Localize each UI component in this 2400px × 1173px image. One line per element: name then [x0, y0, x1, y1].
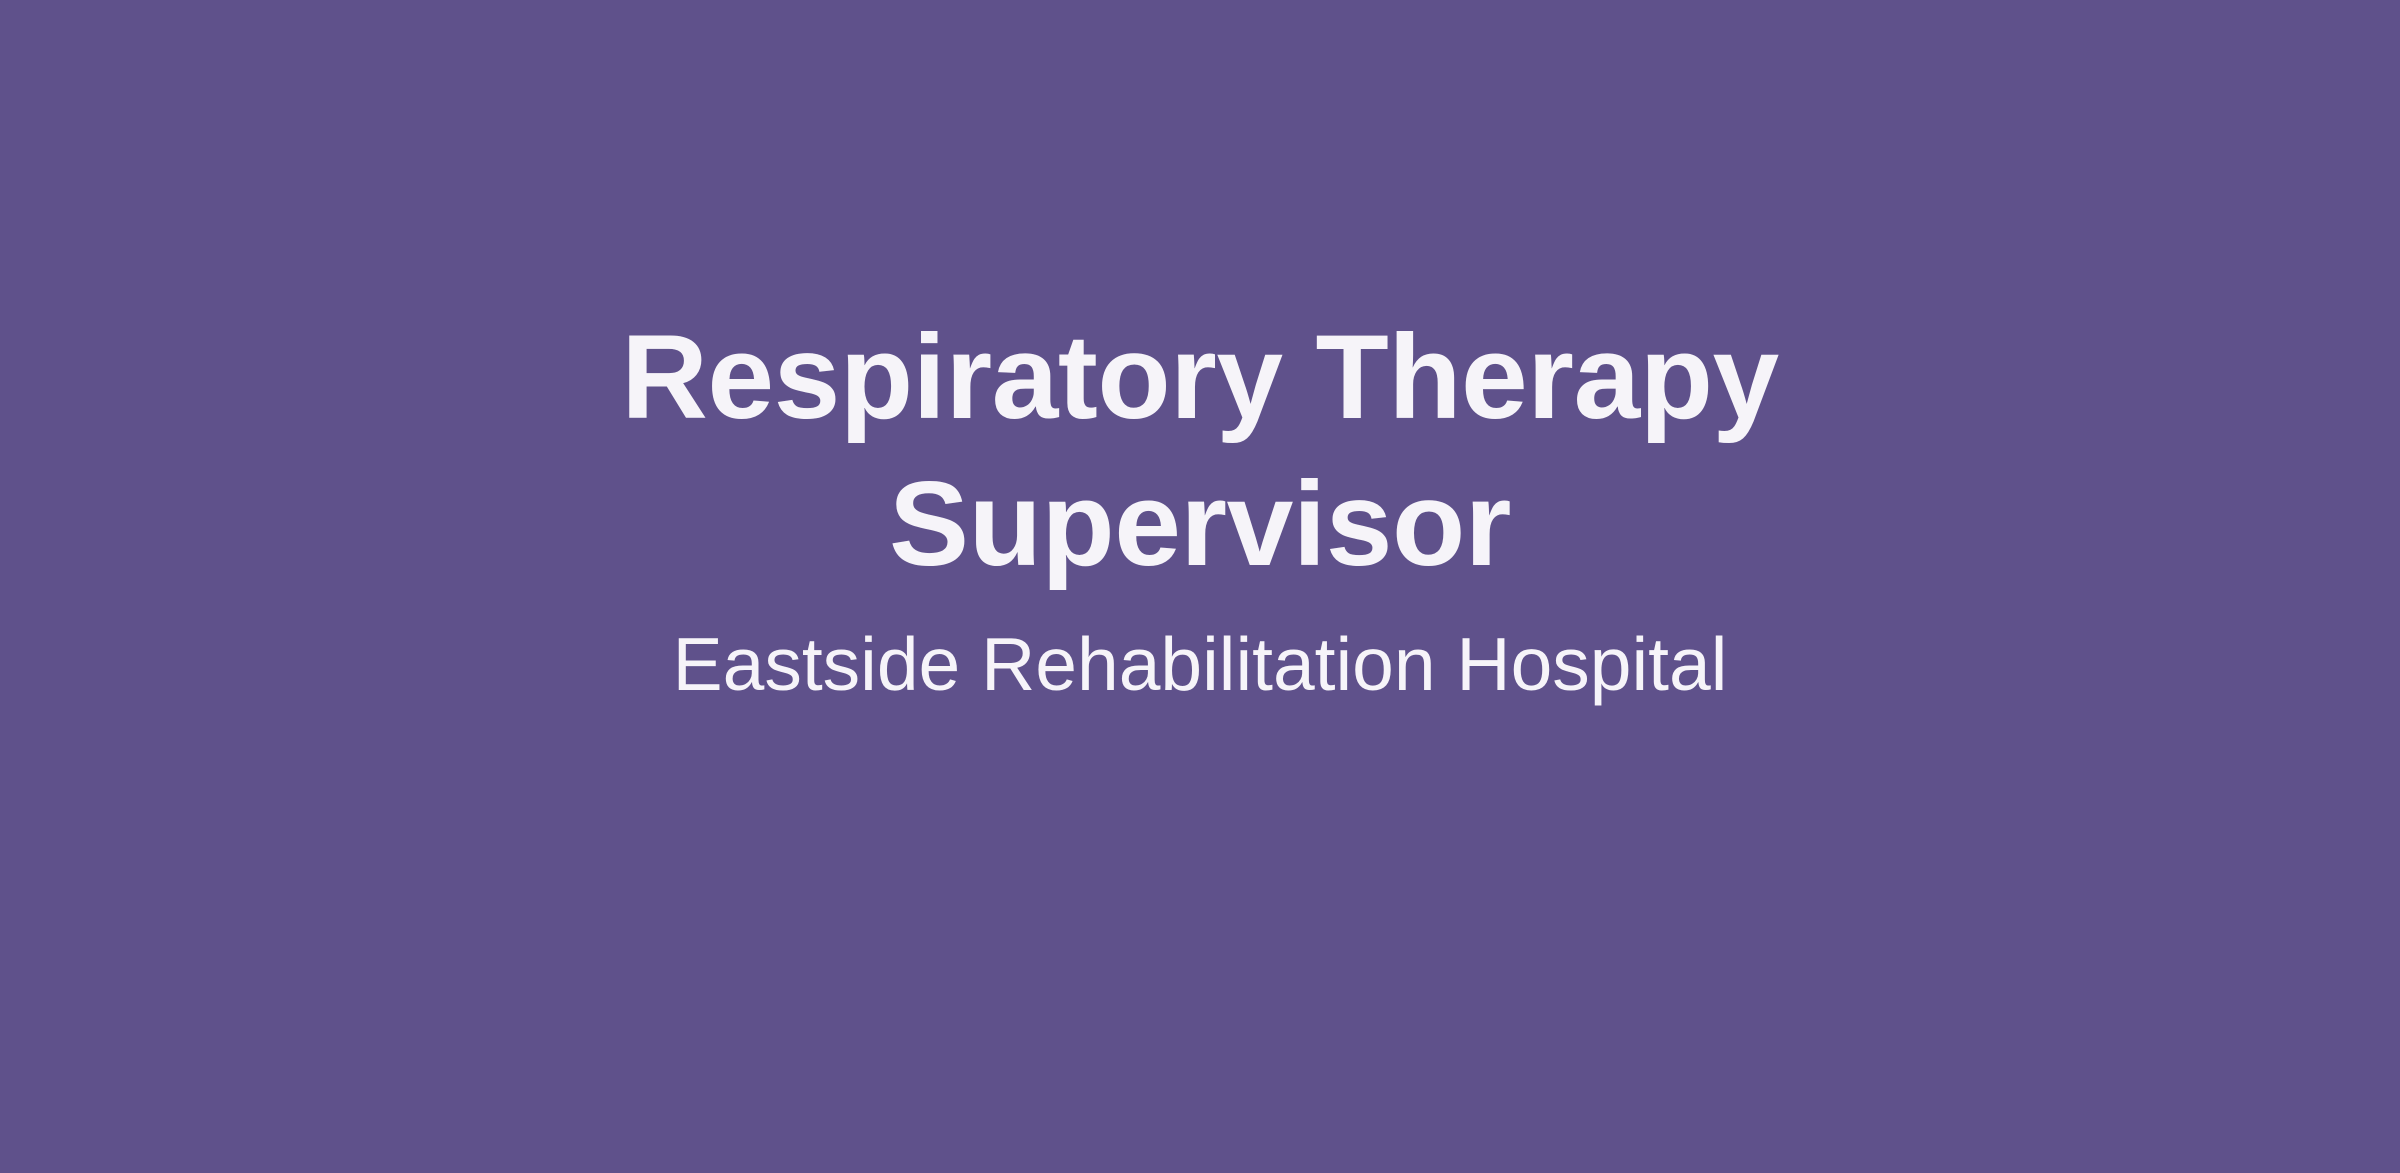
- card-text-block: Respiratory Therapy Supervisor Eastside …: [590, 304, 1810, 709]
- job-posting-header-card: Respiratory Therapy Supervisor Eastside …: [0, 0, 2400, 1173]
- organization-name: Eastside Rehabilitation Hospital: [673, 619, 1728, 709]
- job-title: Respiratory Therapy Supervisor: [590, 304, 1810, 597]
